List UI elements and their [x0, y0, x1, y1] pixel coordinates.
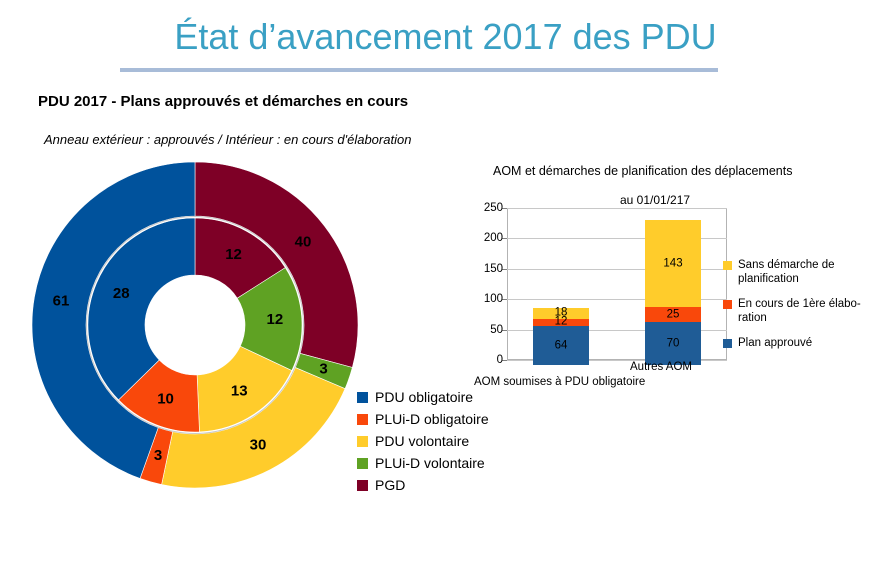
legend-swatch-pgd: [357, 480, 368, 491]
donut-slice-value: 3: [154, 447, 162, 464]
donut-slice-value: 30: [250, 437, 267, 454]
bar-value-b2s2: 25: [645, 309, 701, 320]
legend-label-pdu-obligatoire: PDU obligatoire: [375, 390, 473, 404]
donut-slice-value: 13: [231, 383, 248, 400]
ytick-label-0: 0: [473, 354, 503, 366]
legend-item-pgd[interactable]: PGD: [357, 474, 537, 496]
bar-chart-subtitle: au 01/01/217: [620, 193, 690, 207]
legend-label-plui-d-obligatoire: PLUi-D obligatoire: [375, 412, 489, 426]
legend-label-pdu-volontaire: PDU volontaire: [375, 434, 469, 448]
bar-segment-en-cours-2[interactable]: 25: [645, 307, 701, 322]
donut-slice-value: 3: [319, 360, 327, 377]
donut-slice-value: 40: [295, 233, 312, 250]
donut-chart-svg: 403303611212131028: [22, 155, 368, 495]
bar-value-b2s3: 143: [645, 258, 701, 269]
bar-segment-en-cours[interactable]: 12: [533, 319, 589, 326]
ytick-label-150: 150: [473, 263, 503, 275]
legend-item-plui-d-volontaire[interactable]: PLUi-D volontaire: [357, 452, 537, 474]
bar-legend-label-plan-approuve: Plan approuvé: [738, 336, 812, 350]
xtick-label-autres-aom: Autres AOM: [630, 361, 692, 373]
donut-slice-value: 28: [113, 285, 130, 302]
donut-slice-value: 61: [53, 293, 70, 310]
donut-legend: PDU obligatoire PLUi-D obligatoire PDU v…: [357, 386, 537, 496]
legend-swatch-pdu-volontaire: [357, 436, 368, 447]
bar-segment-sans-demarche-2[interactable]: 143: [645, 220, 701, 307]
ytick-label-100: 100: [473, 293, 503, 305]
donut-slice-value: 12: [225, 246, 242, 263]
legend-label-pgd: PGD: [375, 478, 405, 492]
legend-swatch-plui-d-obligatoire: [357, 414, 368, 425]
bar-legend-item-en-cours[interactable]: En cours de 1ère élabo- ration: [723, 297, 891, 325]
bar-value-b2s1: 70: [645, 338, 701, 349]
legend-item-plui-d-obligatoire[interactable]: PLUi-D obligatoire: [357, 408, 537, 430]
donut-chart-heading: PDU 2017 - Plans approuvés et démarches …: [38, 93, 408, 110]
bar-legend-label-en-cours: En cours de 1ère élabo- ration: [738, 297, 861, 325]
bar-legend-item-sans-demarche[interactable]: Sans démarche de planification: [723, 258, 891, 286]
ytick-label-50: 50: [473, 324, 503, 336]
bar-segment-plan-approuve[interactable]: 64: [533, 326, 589, 365]
donut-outer-ring: [32, 162, 358, 488]
donut-slice-value: 12: [266, 311, 283, 328]
donut-chart: 403303611212131028: [22, 155, 368, 495]
bar-chart-legend: Sans démarche de planification En cours …: [723, 258, 891, 361]
bar-column-autres-aom[interactable]: 143 25 70: [645, 220, 701, 365]
donut-chart-subheading: Anneau extérieur : approuvés / Intérieur…: [44, 132, 411, 147]
bar-legend-swatch-plan-approuve: [723, 339, 732, 348]
page-title: État d’avancement 2017 des PDU: [0, 16, 891, 58]
legend-swatch-pdu-obligatoire: [357, 392, 368, 403]
bar-legend-swatch-en-cours: [723, 300, 732, 309]
bar-legend-item-plan-approuve[interactable]: Plan approuvé: [723, 336, 891, 350]
bar-chart-plot: 250 200 150 100 50 0 18 12 64 143 25: [507, 208, 727, 365]
legend-label-plui-d-volontaire: PLUi-D volontaire: [375, 456, 485, 470]
bar-chart-title: AOM et démarches de planification des dé…: [493, 164, 792, 178]
legend-item-pdu-volontaire[interactable]: PDU volontaire: [357, 430, 537, 452]
ytick-label-200: 200: [473, 232, 503, 244]
legend-swatch-plui-d-volontaire: [357, 458, 368, 469]
title-divider: [120, 68, 718, 72]
gridline-250: [507, 208, 727, 209]
bar-value-b1s1: 64: [533, 340, 589, 351]
xtick-label-aom-soumises: AOM soumises à PDU obligatoire: [474, 376, 645, 388]
donut-slice-value: 10: [157, 390, 174, 407]
ytick-label-250: 250: [473, 202, 503, 214]
bar-legend-swatch-sans-demarche: [723, 261, 732, 270]
bar-segment-plan-approuve-2[interactable]: 70: [645, 322, 701, 365]
bar-legend-label-sans-demarche: Sans démarche de planification: [738, 258, 835, 286]
bar-column-aom-soumises[interactable]: 18 12 64: [533, 308, 589, 365]
